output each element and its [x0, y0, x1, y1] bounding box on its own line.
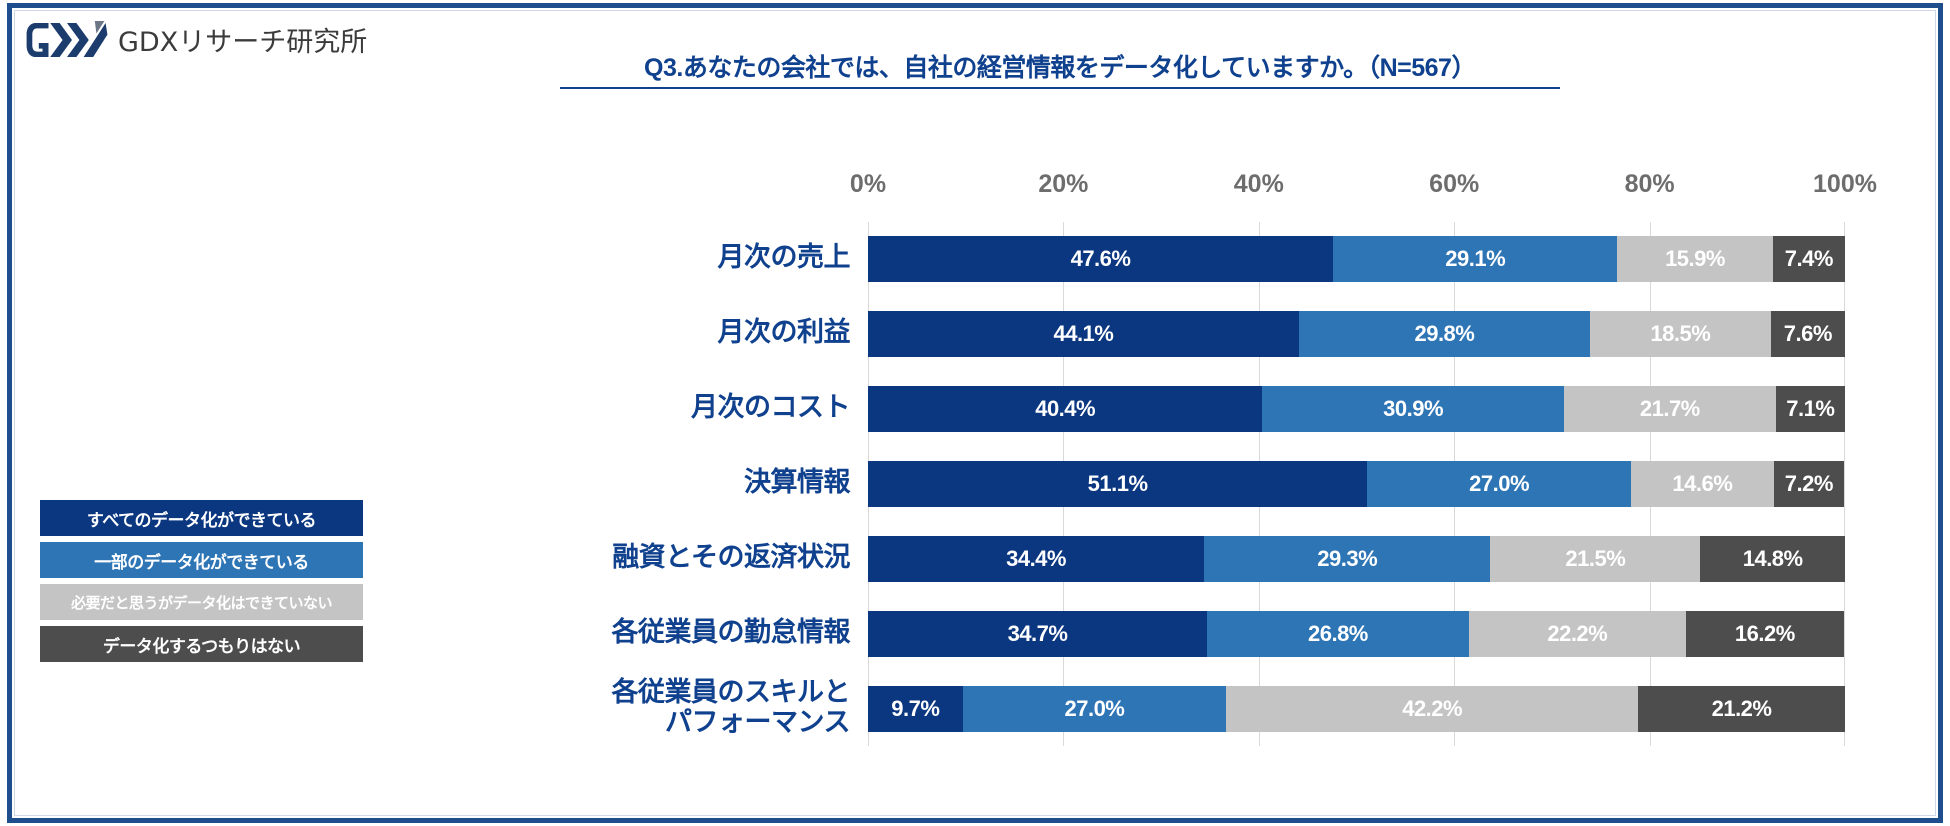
bar-segment-series-2[interactable]: 21.5% — [1490, 536, 1700, 582]
bar-segment-series-1[interactable]: 29.8% — [1299, 311, 1590, 357]
bar-segment-series-3[interactable]: 7.4% — [1773, 236, 1845, 282]
bar-row[interactable]: 51.1%27.0%14.6%7.2% — [868, 461, 1845, 507]
bar-segment-value-label: 42.2% — [1402, 696, 1462, 722]
y-axis-category-label-line: 決算情報 — [744, 467, 850, 497]
bar-segment-value-label: 16.2% — [1735, 621, 1795, 647]
bar-segment-value-label: 15.9% — [1665, 246, 1725, 272]
bar-segment-value-label: 21.7% — [1640, 396, 1700, 422]
bar-segment-value-label: 7.2% — [1785, 471, 1833, 497]
bar-segment-series-0[interactable]: 9.7% — [868, 686, 963, 732]
bar-segment-value-label: 14.6% — [1672, 471, 1732, 497]
y-axis-category-label-line: 各従業員の勤怠情報 — [612, 617, 851, 647]
bar-segment-series-3[interactable]: 21.2% — [1638, 686, 1845, 732]
y-axis-category-labels: 月次の売上月次の利益月次のコスト決算情報融資とその返済状況各従業員の勤怠情報各従… — [380, 222, 850, 746]
bar-segment-series-0[interactable]: 34.4% — [868, 536, 1204, 582]
bar-segment-value-label: 44.1% — [1053, 321, 1113, 347]
bar-segment-value-label: 26.8% — [1308, 621, 1368, 647]
x-axis-tick-label: 80% — [1625, 170, 1675, 199]
bar-segment-value-label: 22.2% — [1547, 621, 1607, 647]
bar-segment-value-label: 29.3% — [1317, 546, 1377, 572]
bar-segment-value-label: 7.4% — [1785, 246, 1833, 272]
bar-segment-series-0[interactable]: 34.7% — [868, 611, 1207, 657]
bar-segment-value-label: 51.1% — [1088, 471, 1148, 497]
bar-segment-series-3[interactable]: 7.6% — [1771, 311, 1845, 357]
y-axis-category-label-line: 月次のコスト — [691, 392, 850, 422]
y-axis-category-label: 各従業員のスキルとパフォーマンス — [612, 677, 851, 737]
bar-segment-value-label: 9.7% — [891, 696, 939, 722]
y-axis-category-label: 月次の売上 — [718, 242, 851, 272]
bar-segment-series-2[interactable]: 22.2% — [1469, 611, 1686, 657]
bar-segment-value-label: 14.8% — [1743, 546, 1803, 572]
y-axis-category-label-line: 各従業員のスキルと — [612, 677, 851, 707]
y-axis-category-label: 各従業員の勤怠情報 — [612, 617, 851, 647]
bar-segment-series-3[interactable]: 7.1% — [1776, 386, 1845, 432]
y-axis-category-label-line: 月次の利益 — [718, 317, 851, 347]
x-axis-tick-label: 100% — [1813, 170, 1877, 199]
bar-segment-value-label: 30.9% — [1383, 396, 1443, 422]
x-axis-tick-label: 0% — [850, 170, 886, 199]
y-axis-category-label: 月次の利益 — [718, 317, 851, 347]
x-axis-tick-label: 60% — [1429, 170, 1479, 199]
bar-segment-value-label: 27.0% — [1064, 696, 1124, 722]
y-axis-category-label-line: 月次の売上 — [718, 242, 851, 272]
bar-segment-value-label: 27.0% — [1469, 471, 1529, 497]
bar-segment-value-label: 29.1% — [1445, 246, 1505, 272]
x-axis-tick-label: 40% — [1234, 170, 1284, 199]
bar-segment-value-label: 7.6% — [1784, 321, 1832, 347]
bar-segment-value-label: 18.5% — [1650, 321, 1710, 347]
x-axis: 0%20%40%60%80%100% — [868, 170, 1845, 200]
bar-segment-series-0[interactable]: 47.6% — [868, 236, 1333, 282]
y-axis-category-label: 決算情報 — [744, 467, 850, 497]
bar-segment-value-label: 47.6% — [1071, 246, 1131, 272]
bar-segment-value-label: 29.8% — [1414, 321, 1474, 347]
plot-area: 47.6%29.1%15.9%7.4%44.1%29.8%18.5%7.6%40… — [868, 222, 1845, 746]
bar-row[interactable]: 40.4%30.9%21.7%7.1% — [868, 386, 1845, 432]
bar-segment-value-label: 34.4% — [1006, 546, 1066, 572]
bar-row[interactable]: 34.7%26.8%22.2%16.2% — [868, 611, 1845, 657]
bar-segment-series-2[interactable]: 14.6% — [1631, 461, 1774, 507]
bar-segment-value-label: 40.4% — [1035, 396, 1095, 422]
bar-segment-series-2[interactable]: 42.2% — [1226, 686, 1638, 732]
bar-segment-series-0[interactable]: 40.4% — [868, 386, 1262, 432]
bar-segment-series-0[interactable]: 51.1% — [868, 461, 1367, 507]
bar-segment-series-2[interactable]: 21.7% — [1564, 386, 1776, 432]
bar-row[interactable]: 9.7%27.0%42.2%21.2% — [868, 686, 1845, 732]
bar-segment-value-label: 21.5% — [1565, 546, 1625, 572]
bar-segment-series-3[interactable]: 7.2% — [1774, 461, 1844, 507]
bar-rows: 47.6%29.1%15.9%7.4%44.1%29.8%18.5%7.6%40… — [868, 222, 1845, 746]
y-axis-category-label-line: 融資とその返済状況 — [612, 542, 850, 572]
bar-row[interactable]: 44.1%29.8%18.5%7.6% — [868, 311, 1845, 357]
bar-segment-series-0[interactable]: 44.1% — [868, 311, 1299, 357]
bar-segment-series-1[interactable]: 27.0% — [963, 686, 1227, 732]
bar-segment-series-2[interactable]: 15.9% — [1617, 236, 1772, 282]
bar-segment-value-label: 21.2% — [1712, 696, 1772, 722]
y-axis-category-label: 融資とその返済状況 — [612, 542, 850, 572]
bar-segment-value-label: 34.7% — [1008, 621, 1068, 647]
x-axis-tick-label: 20% — [1038, 170, 1088, 199]
slide-canvas: GDXリサーチ研究所 Q3.あなたの会社では、自社の経営情報をデータ化しています… — [0, 0, 1950, 826]
stacked-bar-chart: 0%20%40%60%80%100% 月次の売上月次の利益月次のコスト決算情報融… — [0, 0, 1950, 826]
bar-segment-series-1[interactable]: 30.9% — [1262, 386, 1564, 432]
bar-segment-value-label: 7.1% — [1786, 396, 1834, 422]
bar-segment-series-1[interactable]: 29.1% — [1333, 236, 1617, 282]
bar-segment-series-1[interactable]: 27.0% — [1367, 461, 1631, 507]
bar-segment-series-2[interactable]: 18.5% — [1590, 311, 1771, 357]
bar-segment-series-1[interactable]: 29.3% — [1204, 536, 1490, 582]
bar-segment-series-3[interactable]: 14.8% — [1700, 536, 1845, 582]
bar-segment-series-1[interactable]: 26.8% — [1207, 611, 1469, 657]
bar-segment-series-3[interactable]: 16.2% — [1686, 611, 1844, 657]
y-axis-category-label-line: パフォーマンス — [612, 707, 851, 737]
y-axis-category-label: 月次のコスト — [691, 392, 850, 422]
bar-row[interactable]: 34.4%29.3%21.5%14.8% — [868, 536, 1845, 582]
bar-row[interactable]: 47.6%29.1%15.9%7.4% — [868, 236, 1845, 282]
